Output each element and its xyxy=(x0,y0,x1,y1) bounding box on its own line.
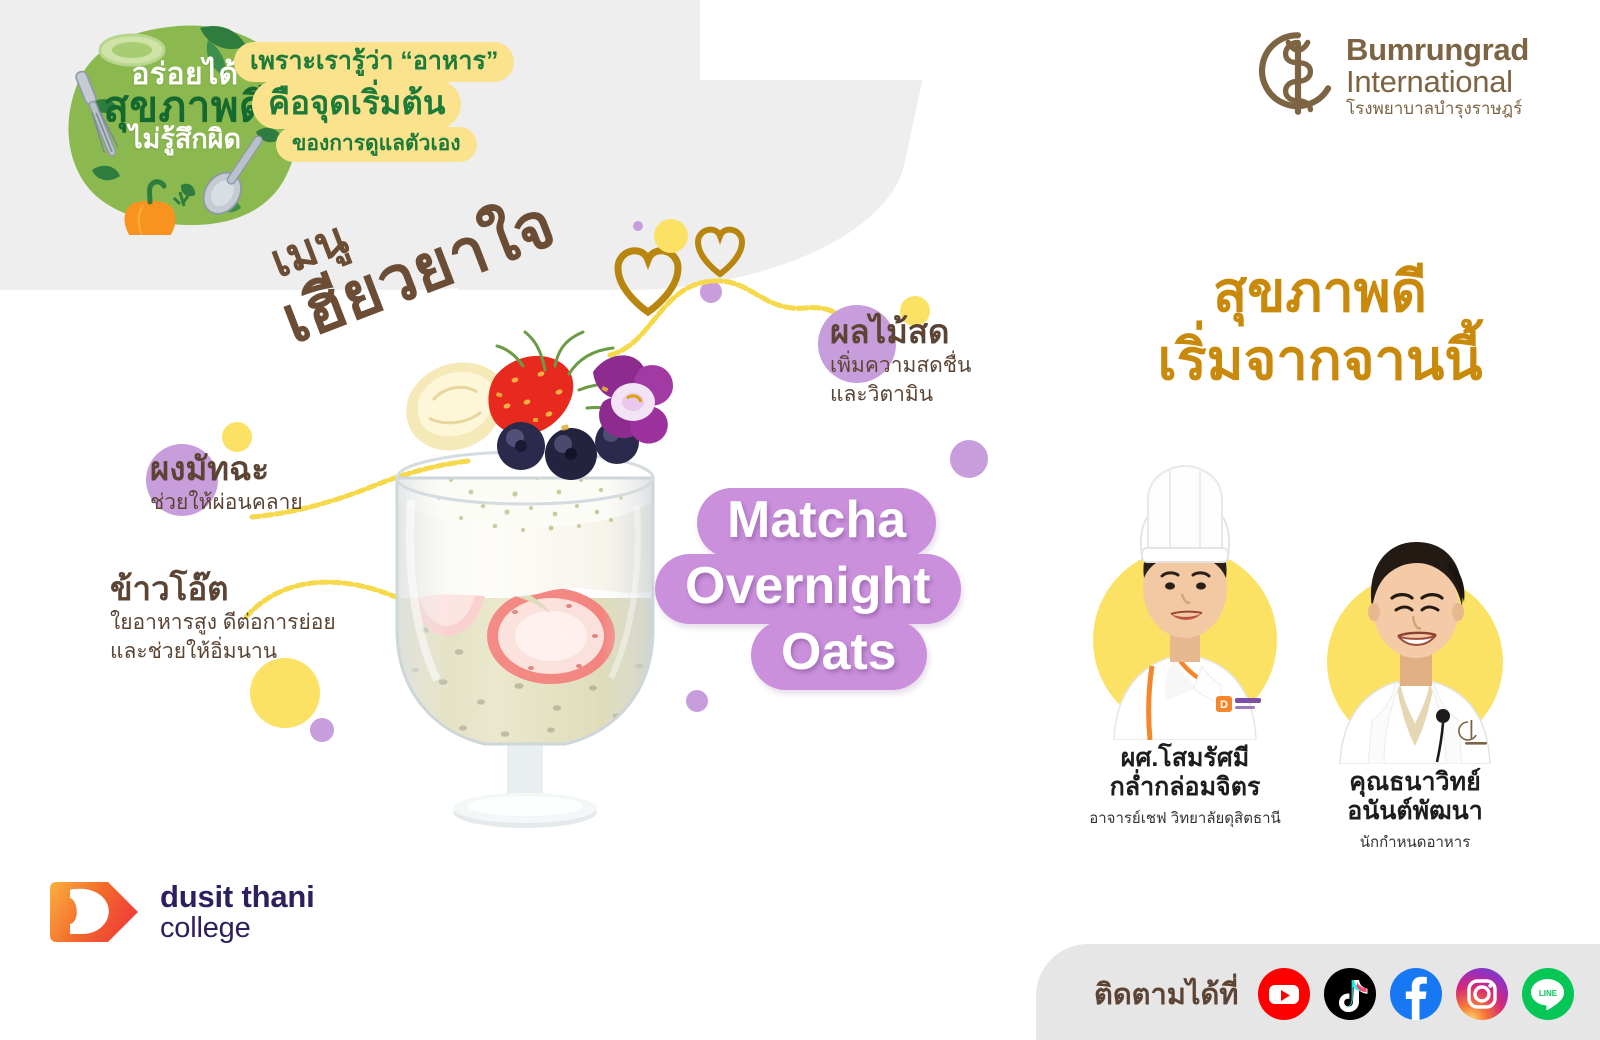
purple-dot xyxy=(700,281,722,303)
purple-dot xyxy=(950,440,988,478)
headline-pill-1: เพราะเรารู้ว่า “อาหาร” xyxy=(234,42,514,82)
follow-us-label: ติดตามได้ที่ xyxy=(1094,971,1238,1017)
gold-headline-line1: สุขภาพดี xyxy=(1050,258,1590,326)
bumrungrad-line2: International xyxy=(1346,66,1529,98)
annotation-matcha-title: ผงมัทฉะ xyxy=(150,452,430,487)
facebook-icon[interactable] xyxy=(1390,968,1442,1020)
heart-decoration-group xyxy=(580,200,770,340)
dish-name-line3: Oats xyxy=(751,620,927,690)
blueberry xyxy=(545,428,597,480)
headline-pill-2: คือจุดเริ่มต้น xyxy=(252,80,461,129)
line-icon[interactable]: LINE xyxy=(1522,968,1574,1020)
bumrungrad-line1: Bumrungrad xyxy=(1346,34,1529,66)
dusit-thani-college-logo: dusit thani college xyxy=(48,876,315,948)
annotation-fruit: ผลไม้สด เพิ่มความสดชื่น และวิตามิน xyxy=(830,315,1080,408)
gold-headline: สุขภาพดี เริ่มจากจานนี้ xyxy=(1050,258,1590,395)
annotation-matcha-desc: ช่วยให้ผ่อนคลาย xyxy=(150,489,430,516)
youtube-icon[interactable] xyxy=(1258,968,1310,1020)
yellow-dot xyxy=(654,219,688,253)
presenter-dietitian: คุณธนาวิทย์ อนันต์พัฒนา นักกำหนดอาหาร xyxy=(1300,484,1530,854)
presenters-group: D xyxy=(1060,460,1580,860)
annotation-oats: ข้าวโอ๊ต ใยอาหารสูง ดีต่อการย่อย และช่วย… xyxy=(110,572,440,665)
caduceus-icon xyxy=(1258,30,1338,122)
yellow-dot xyxy=(250,658,320,728)
presenter-chef-name-line1: ผศ.โสมรัศมี xyxy=(1070,744,1300,773)
purple-dot xyxy=(686,690,708,712)
infographic-canvas: อร่อยได้ สุขภาพดี ไม่รู้สึกผิด เพราะเราร… xyxy=(0,0,1600,1040)
annotation-oats-title: ข้าวโอ๊ต xyxy=(110,572,440,607)
chef-portrait: D xyxy=(1070,460,1300,740)
social-footer-bar: ติดตามได้ที่ xyxy=(1036,944,1600,1040)
dish-name-line1: Matcha xyxy=(697,488,936,558)
gold-headline-line2: เริ่มจากจานนี้ xyxy=(1050,326,1590,394)
heart-outline-large xyxy=(618,251,678,312)
presenter-dietitian-role: นักกำหนดอาหาร xyxy=(1300,830,1530,854)
dusit-logo-line2: college xyxy=(160,913,315,944)
yellow-dot xyxy=(222,422,252,452)
annotation-matcha: ผงมัทฉะ ช่วยให้ผ่อนคลาย xyxy=(150,452,430,516)
bumrungrad-line3-thai: โรงพยาบาลบำรุงราษฎร์ xyxy=(1346,99,1529,119)
presenter-chef: D xyxy=(1070,460,1300,830)
annotation-fruit-title: ผลไม้สด xyxy=(830,315,1080,350)
purple-dot xyxy=(633,221,643,231)
bumrungrad-logo: Bumrungrad International โรงพยาบาลบำรุงร… xyxy=(1258,30,1558,150)
presenter-dietitian-name-line1: คุณธนาวิทย์ xyxy=(1300,768,1530,797)
dietitian-portrait xyxy=(1300,484,1530,764)
annotation-fruit-desc-line2: และวิตามิน xyxy=(830,381,1080,408)
dish-name-line2: Overnight xyxy=(655,554,961,624)
dusit-logo-line1: dusit thani xyxy=(160,880,315,913)
presenter-chef-name-line2: กล่ำกล่อมจิตร xyxy=(1070,773,1300,802)
purple-dot xyxy=(310,718,334,742)
annotation-oats-desc-line2: และช่วยให้อิ่มนาน xyxy=(110,638,440,665)
blueberry xyxy=(497,422,545,470)
svg-text:D: D xyxy=(1220,699,1228,711)
presenter-chef-role: อาจารย์เชฟ วิทยาลัยดุสิตธานี xyxy=(1070,806,1300,830)
presenter-dietitian-name-line2: อนันต์พัฒนา xyxy=(1300,797,1530,826)
tiktok-icon[interactable] xyxy=(1324,968,1376,1020)
dish-name-badge: Matcha Overnight Oats xyxy=(655,488,985,690)
dusit-d-icon xyxy=(48,876,144,948)
svg-text:LINE: LINE xyxy=(1539,989,1558,998)
heart-outline-small xyxy=(698,230,742,274)
instagram-icon[interactable] xyxy=(1456,968,1508,1020)
annotation-fruit-desc-line1: เพิ่มความสดชื่น xyxy=(830,352,1080,379)
annotation-oats-desc-line1: ใยอาหารสูง ดีต่อการย่อย xyxy=(110,609,440,636)
headline-pill-3: ของการดูแลตัวเอง xyxy=(276,127,477,163)
